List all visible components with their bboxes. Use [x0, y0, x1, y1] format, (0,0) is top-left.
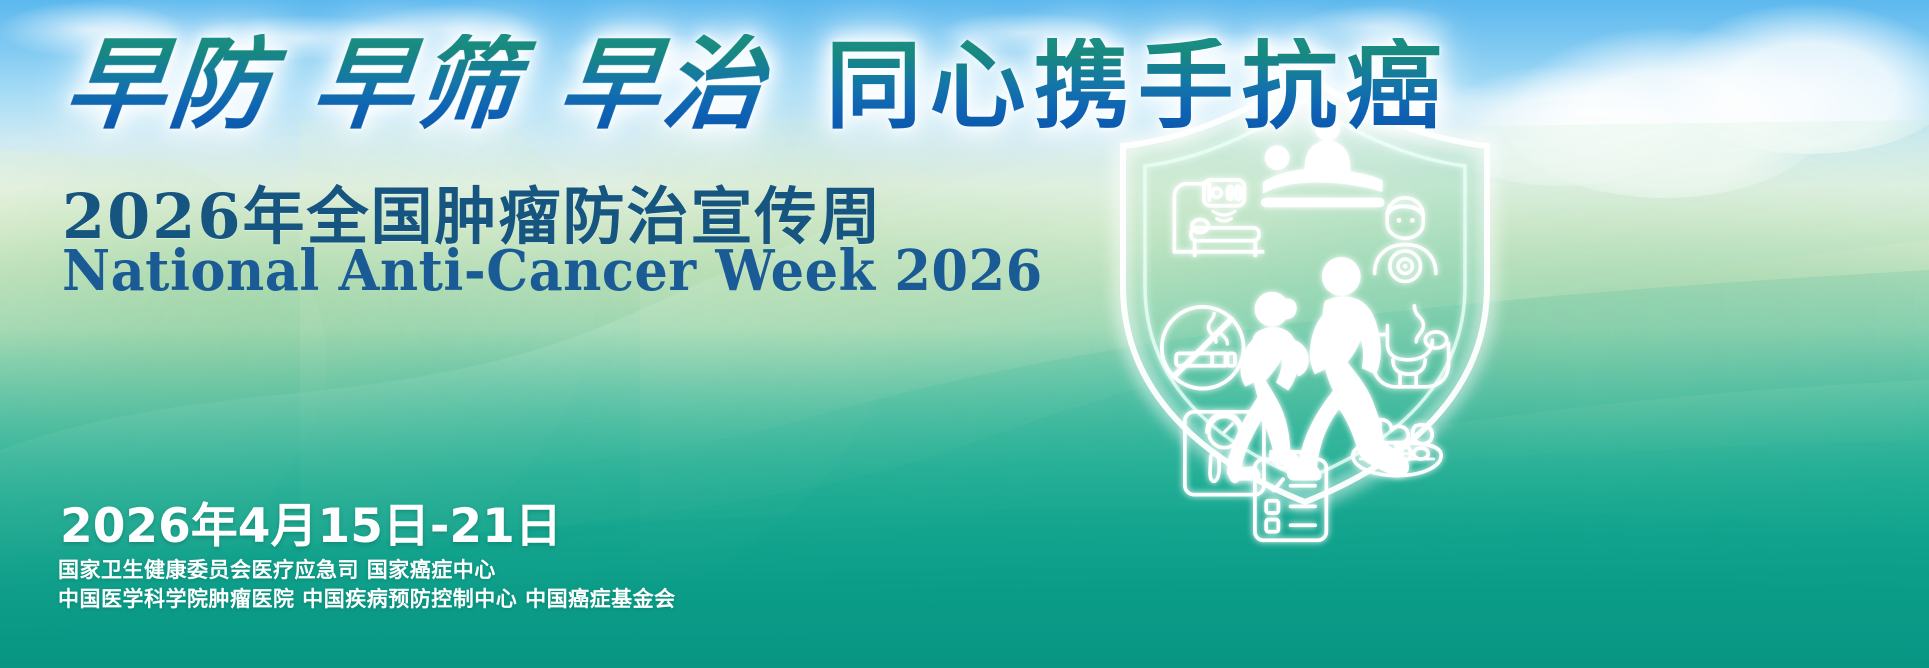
poster-content: 早防 早筛 早治同心携手抗癌 2026年全国肿瘤防治宣传周 National A…	[0, 0, 1929, 668]
headline: 早防 早筛 早治同心携手抗癌	[66, 34, 1450, 134]
anti-cancer-week-poster: 早防 早筛 早治同心携手抗癌 2026年全国肿瘤防治宣传周 National A…	[0, 0, 1929, 668]
event-date: 2026年4月15日-21日	[60, 487, 562, 556]
headline-song-part: 同心携手抗癌	[826, 38, 1450, 134]
organizer-list: 国家卫生健康委员会医疗应急司 国家癌症中心 中国医学科学院肿瘤医院 中国疾病预防…	[58, 556, 676, 614]
subtitle-english: National Anti-Cancer Week 2026	[62, 238, 1043, 304]
organizer-line: 中国医学科学院肿瘤医院 中国疾病预防控制中心 中国癌症基金会	[58, 585, 676, 614]
headline-brush-part: 早防 早筛 早治	[61, 34, 773, 134]
organizer-line: 国家卫生健康委员会医疗应急司 国家癌症中心	[58, 556, 676, 585]
